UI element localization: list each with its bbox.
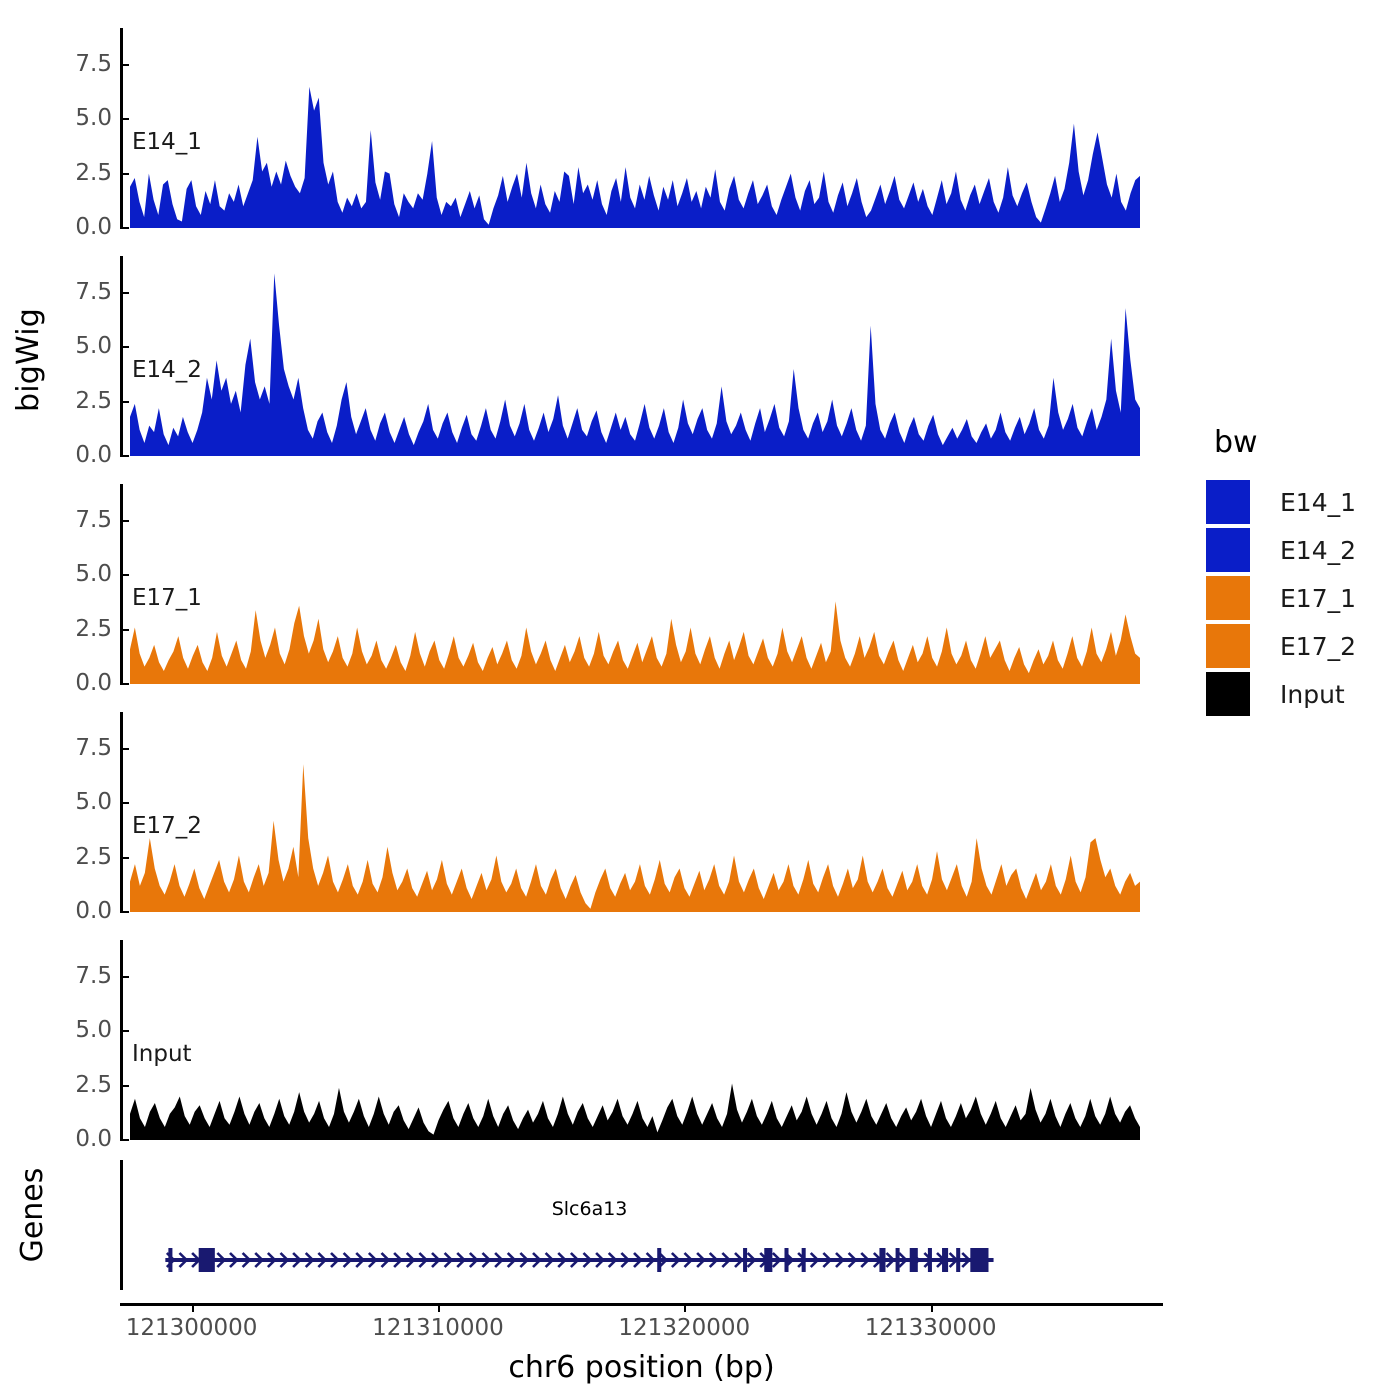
y-tick-label: 7.5 xyxy=(36,737,112,760)
legend-item-input[interactable]: Input xyxy=(1206,670,1356,718)
x-tick xyxy=(931,1303,933,1312)
x-tick xyxy=(192,1303,194,1312)
x-tick-label: 121300000 xyxy=(126,1315,258,1341)
legend-item-e14_1[interactable]: E14_1 xyxy=(1206,478,1356,526)
y-tick-label: 2.5 xyxy=(36,162,112,185)
signal-area-e14_1 xyxy=(130,28,1140,228)
legend-label: E17_1 xyxy=(1280,584,1356,613)
signal-panel-e17_2: 0.02.55.07.5E17_2 xyxy=(0,712,1400,912)
y-tick xyxy=(120,1085,129,1087)
x-axis-line xyxy=(120,1303,1163,1306)
x-tick-label: 121320000 xyxy=(618,1315,750,1341)
y-tick-label: 7.5 xyxy=(36,281,112,304)
y-tick xyxy=(120,455,129,457)
legend-item-e17_1[interactable]: E17_1 xyxy=(1206,574,1356,622)
y-tick xyxy=(120,629,129,631)
signal-panel-e14_1: 0.02.55.07.5E14_1 xyxy=(0,28,1400,228)
y-tick-label: 7.5 xyxy=(36,53,112,76)
legend-color-swatch xyxy=(1206,624,1250,668)
legend-label: E17_2 xyxy=(1280,632,1356,661)
gene-track-panel: Slc6a13 xyxy=(0,1160,1400,1290)
y-tick xyxy=(120,401,129,403)
y-tick xyxy=(120,346,129,348)
y-tick-label: 2.5 xyxy=(36,390,112,413)
y-axis-line xyxy=(120,712,123,912)
legend-label: E14_2 xyxy=(1280,536,1356,565)
y-tick xyxy=(120,911,129,913)
y-axis-line xyxy=(120,256,123,456)
signal-area-input xyxy=(130,940,1140,1140)
legend-color-swatch xyxy=(1206,672,1250,716)
legend-items: E14_1E14_2E17_1E17_2Input xyxy=(1206,478,1356,718)
y-tick xyxy=(120,520,129,522)
signal-area-e17_2 xyxy=(130,712,1140,912)
gene-model xyxy=(130,1160,1140,1290)
legend-color-swatch xyxy=(1206,528,1250,572)
y-tick-label: 0.0 xyxy=(36,216,112,239)
y-tick-label: 5.0 xyxy=(36,1019,112,1042)
y-tick-label: 2.5 xyxy=(36,1074,112,1097)
y-tick xyxy=(120,857,129,859)
legend-color-swatch xyxy=(1206,576,1250,620)
y-tick-label: 0.0 xyxy=(36,1128,112,1151)
signal-panel-e14_2: 0.02.55.07.5E14_2 xyxy=(0,256,1400,456)
y-tick xyxy=(120,802,129,804)
legend-label: E14_1 xyxy=(1280,488,1356,517)
x-axis-title: chr6 position (bp) xyxy=(120,1350,1163,1385)
y-tick-label: 5.0 xyxy=(36,563,112,586)
legend-label: Input xyxy=(1280,680,1345,709)
y-tick-label: 2.5 xyxy=(36,618,112,641)
y-axis-line xyxy=(120,28,123,228)
legend-title: bw xyxy=(1214,425,1356,460)
legend-item-e17_2[interactable]: E17_2 xyxy=(1206,622,1356,670)
y-axis-line xyxy=(120,484,123,684)
x-tick-label: 121330000 xyxy=(865,1315,997,1341)
signal-area-e17_1 xyxy=(130,484,1140,684)
y-tick-label: 5.0 xyxy=(36,107,112,130)
y-tick xyxy=(120,574,129,576)
y-tick xyxy=(120,173,129,175)
y-tick xyxy=(120,1030,129,1032)
signal-area-e14_2 xyxy=(130,256,1140,456)
y-tick-label: 7.5 xyxy=(36,509,112,532)
y-tick xyxy=(120,227,129,229)
genes-axis-line xyxy=(120,1160,123,1290)
genome-browser-figure: bigWig Genes 0.02.55.07.5E14_10.02.55.07… xyxy=(0,0,1400,1400)
y-tick xyxy=(120,748,129,750)
x-tick xyxy=(684,1303,686,1312)
y-tick xyxy=(120,292,129,294)
y-tick xyxy=(120,118,129,120)
y-tick xyxy=(120,1139,129,1141)
legend-item-e14_2[interactable]: E14_2 xyxy=(1206,526,1356,574)
x-tick-label: 121310000 xyxy=(372,1315,504,1341)
y-tick-label: 5.0 xyxy=(36,335,112,358)
y-tick-label: 7.5 xyxy=(36,965,112,988)
signal-panel-input: 0.02.55.07.5Input xyxy=(0,940,1400,1140)
y-tick-label: 0.0 xyxy=(36,672,112,695)
y-tick xyxy=(120,976,129,978)
y-tick-label: 0.0 xyxy=(36,900,112,923)
x-tick xyxy=(438,1303,440,1312)
y-axis-line xyxy=(120,940,123,1140)
signal-panel-e17_1: 0.02.55.07.5E17_1 xyxy=(0,484,1400,684)
y-tick-label: 0.0 xyxy=(36,444,112,467)
legend-color-swatch xyxy=(1206,480,1250,524)
legend: bw E14_1E14_2E17_1E17_2Input xyxy=(1206,425,1356,718)
y-tick-label: 5.0 xyxy=(36,791,112,814)
y-tick xyxy=(120,64,129,66)
y-tick-label: 2.5 xyxy=(36,846,112,869)
y-tick xyxy=(120,683,129,685)
